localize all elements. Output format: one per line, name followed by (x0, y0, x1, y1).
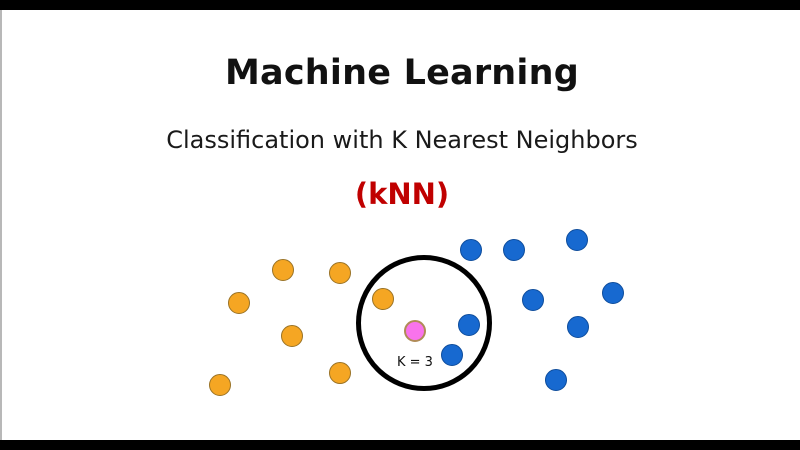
knn-scatter-diagram: K = 3 (2, 10, 800, 440)
data-point-class-a (281, 325, 303, 347)
data-point-class-a (209, 374, 231, 396)
letterbox-bar-bottom (0, 440, 800, 450)
data-point-class-b (602, 282, 624, 304)
data-point-class-b (566, 229, 588, 251)
data-point-class-b (567, 316, 589, 338)
data-point-class-b (503, 239, 525, 261)
neighborhood-circle (356, 255, 492, 391)
slide-canvas: Machine Learning Classification with K N… (0, 10, 800, 440)
data-point-class-b (545, 369, 567, 391)
data-point-class-b (460, 239, 482, 261)
letterbox-bar-top (0, 0, 800, 10)
data-point-class-a (329, 362, 351, 384)
slide-root: Machine Learning Classification with K N… (0, 0, 800, 450)
data-point-class-b (522, 289, 544, 311)
k-value-label: K = 3 (397, 355, 433, 370)
data-point-class-a (228, 292, 250, 314)
data-point-class-a (329, 262, 351, 284)
data-point-class-a (272, 259, 294, 281)
query-point (404, 320, 426, 342)
